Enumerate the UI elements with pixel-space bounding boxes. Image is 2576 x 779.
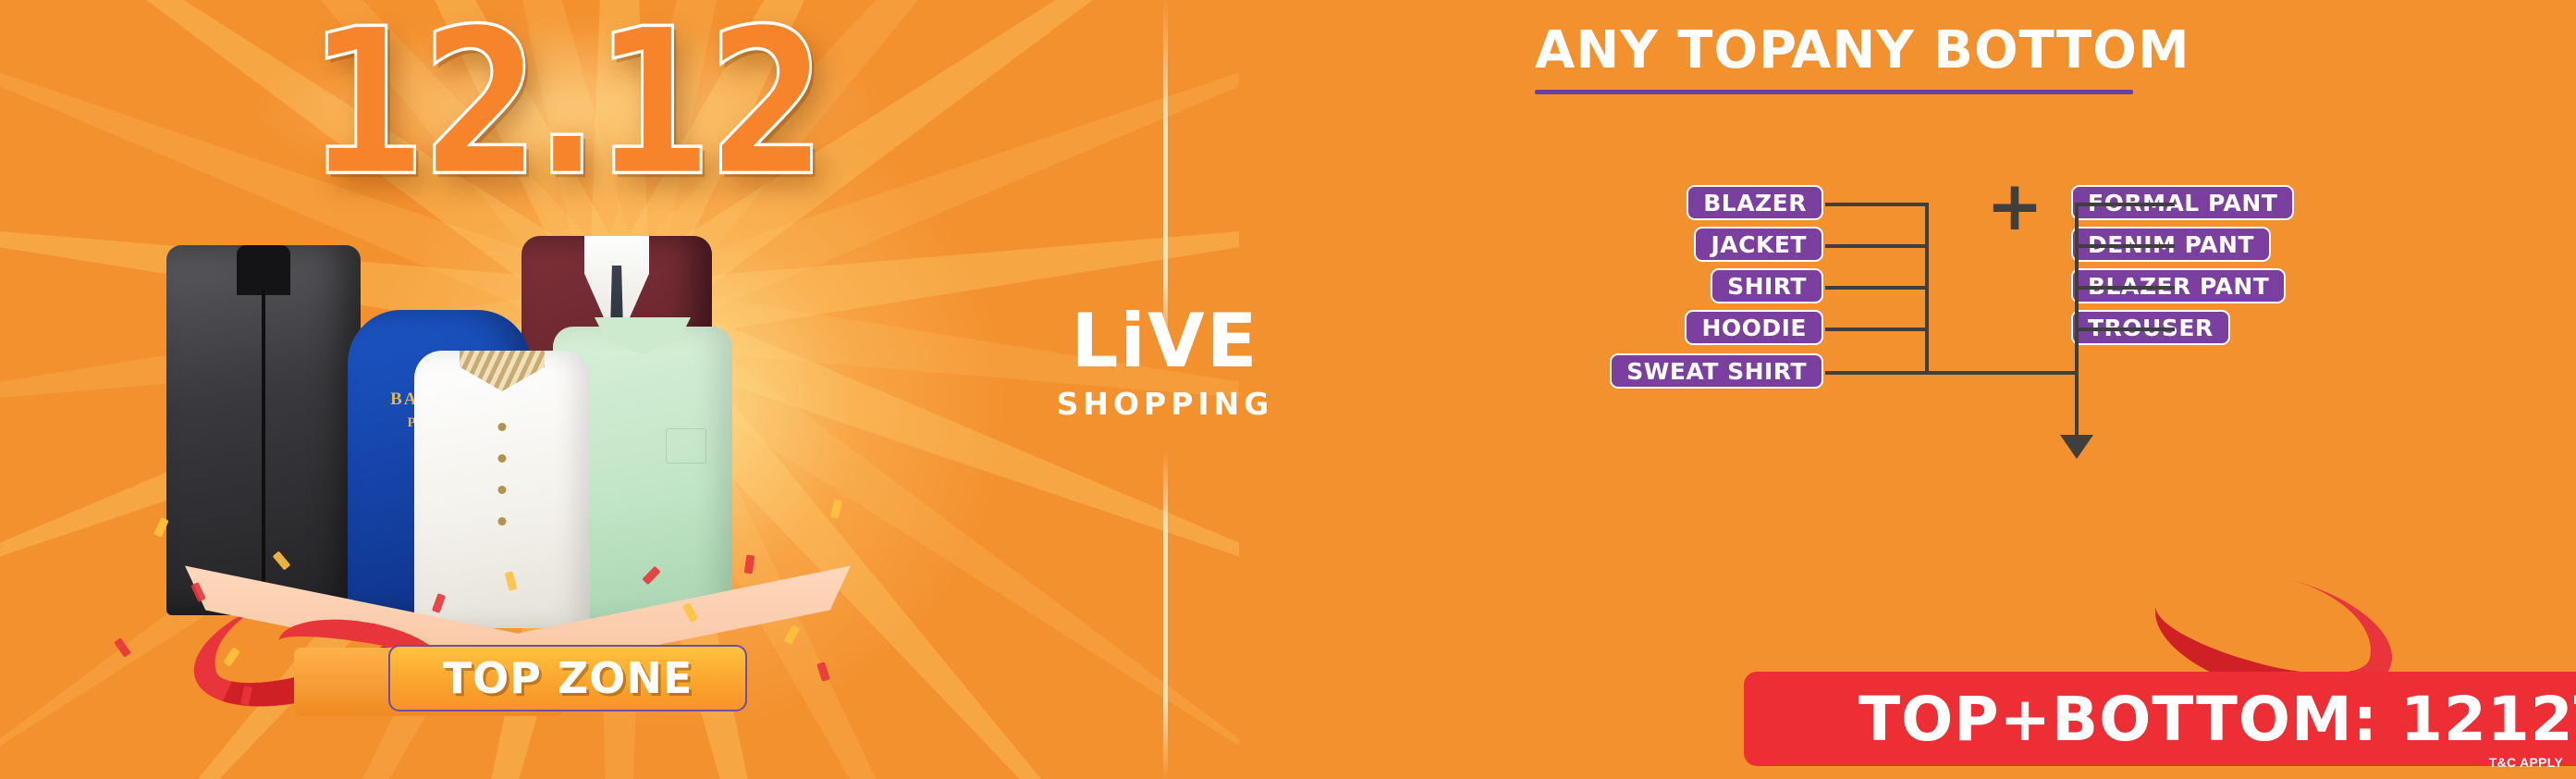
wire-join [1925, 371, 2079, 375]
offer-panel: ANY TOP ANY BOTTOM BLAZERJACKETSHIRTHOOD… [1387, 0, 2576, 779]
promotional-banner: 12.12 BALMAIN PARIS B [0, 0, 2576, 779]
chip-top-hoodie[interactable]: HOODIE [1685, 310, 1823, 345]
mint-shirt-pocket [666, 428, 706, 464]
heading-any-top-underline [1535, 90, 1816, 94]
top-zone-badge[interactable]: TOP ZONE [388, 645, 747, 711]
chip-top-shirt[interactable]: SHIRT [1711, 268, 1823, 303]
garment-group: BALMAIN PARIS B [166, 199, 851, 615]
live-shopping-logo: LiVE SHOPPING [1002, 294, 1328, 433]
wire-left-bus [1925, 203, 1929, 375]
logo-word-shopping: SHOPPING [1057, 386, 1274, 422]
wire-top-stub [1825, 286, 1929, 290]
heading-any-top: ANY TOP [1535, 20, 1816, 94]
chip-top-blazer[interactable]: BLAZER [1687, 185, 1823, 220]
wire-top-stub [1825, 203, 1929, 206]
arrow-head-icon [2060, 435, 2093, 459]
mint-shirt-collar [595, 317, 691, 354]
heading-any-top-label: ANY TOP [1535, 20, 1797, 80]
price-banner: TOP+BOTTOM: 1212TK [1744, 672, 2576, 766]
logo-word-live: LiVE [1072, 306, 1259, 377]
wire-bottom-stub [2075, 286, 2175, 290]
heading-any-bottom: ANY BOTTOM [1791, 20, 2190, 94]
panjabi-collar [460, 351, 545, 391]
plus-symbol: + [1986, 172, 2043, 241]
wire-top-stub [1825, 328, 1929, 331]
chip-top-sweat-shirt[interactable]: SWEAT SHIRT [1610, 353, 1823, 389]
heading-any-bottom-underline [1791, 90, 2133, 94]
wire-top-stub [1825, 371, 1929, 375]
chip-top-jacket[interactable]: JACKET [1694, 227, 1823, 262]
panjabi-button [498, 517, 507, 526]
heading-any-bottom-label: ANY BOTTOM [1791, 20, 2190, 80]
headline-1212: 12.12 [277, 0, 851, 217]
wire-bottom-stub [2075, 203, 2175, 206]
wire-bottom-stub [2075, 244, 2175, 248]
panjabi-button [498, 454, 507, 463]
panjabi-button [498, 423, 507, 431]
panjabi-button [498, 486, 507, 494]
terms-note: T&C APPLY [2489, 755, 2563, 770]
wire-arrow-shaft [2075, 371, 2079, 438]
wire-bottom-stub [2075, 328, 2175, 331]
wire-top-stub [1825, 244, 1929, 248]
